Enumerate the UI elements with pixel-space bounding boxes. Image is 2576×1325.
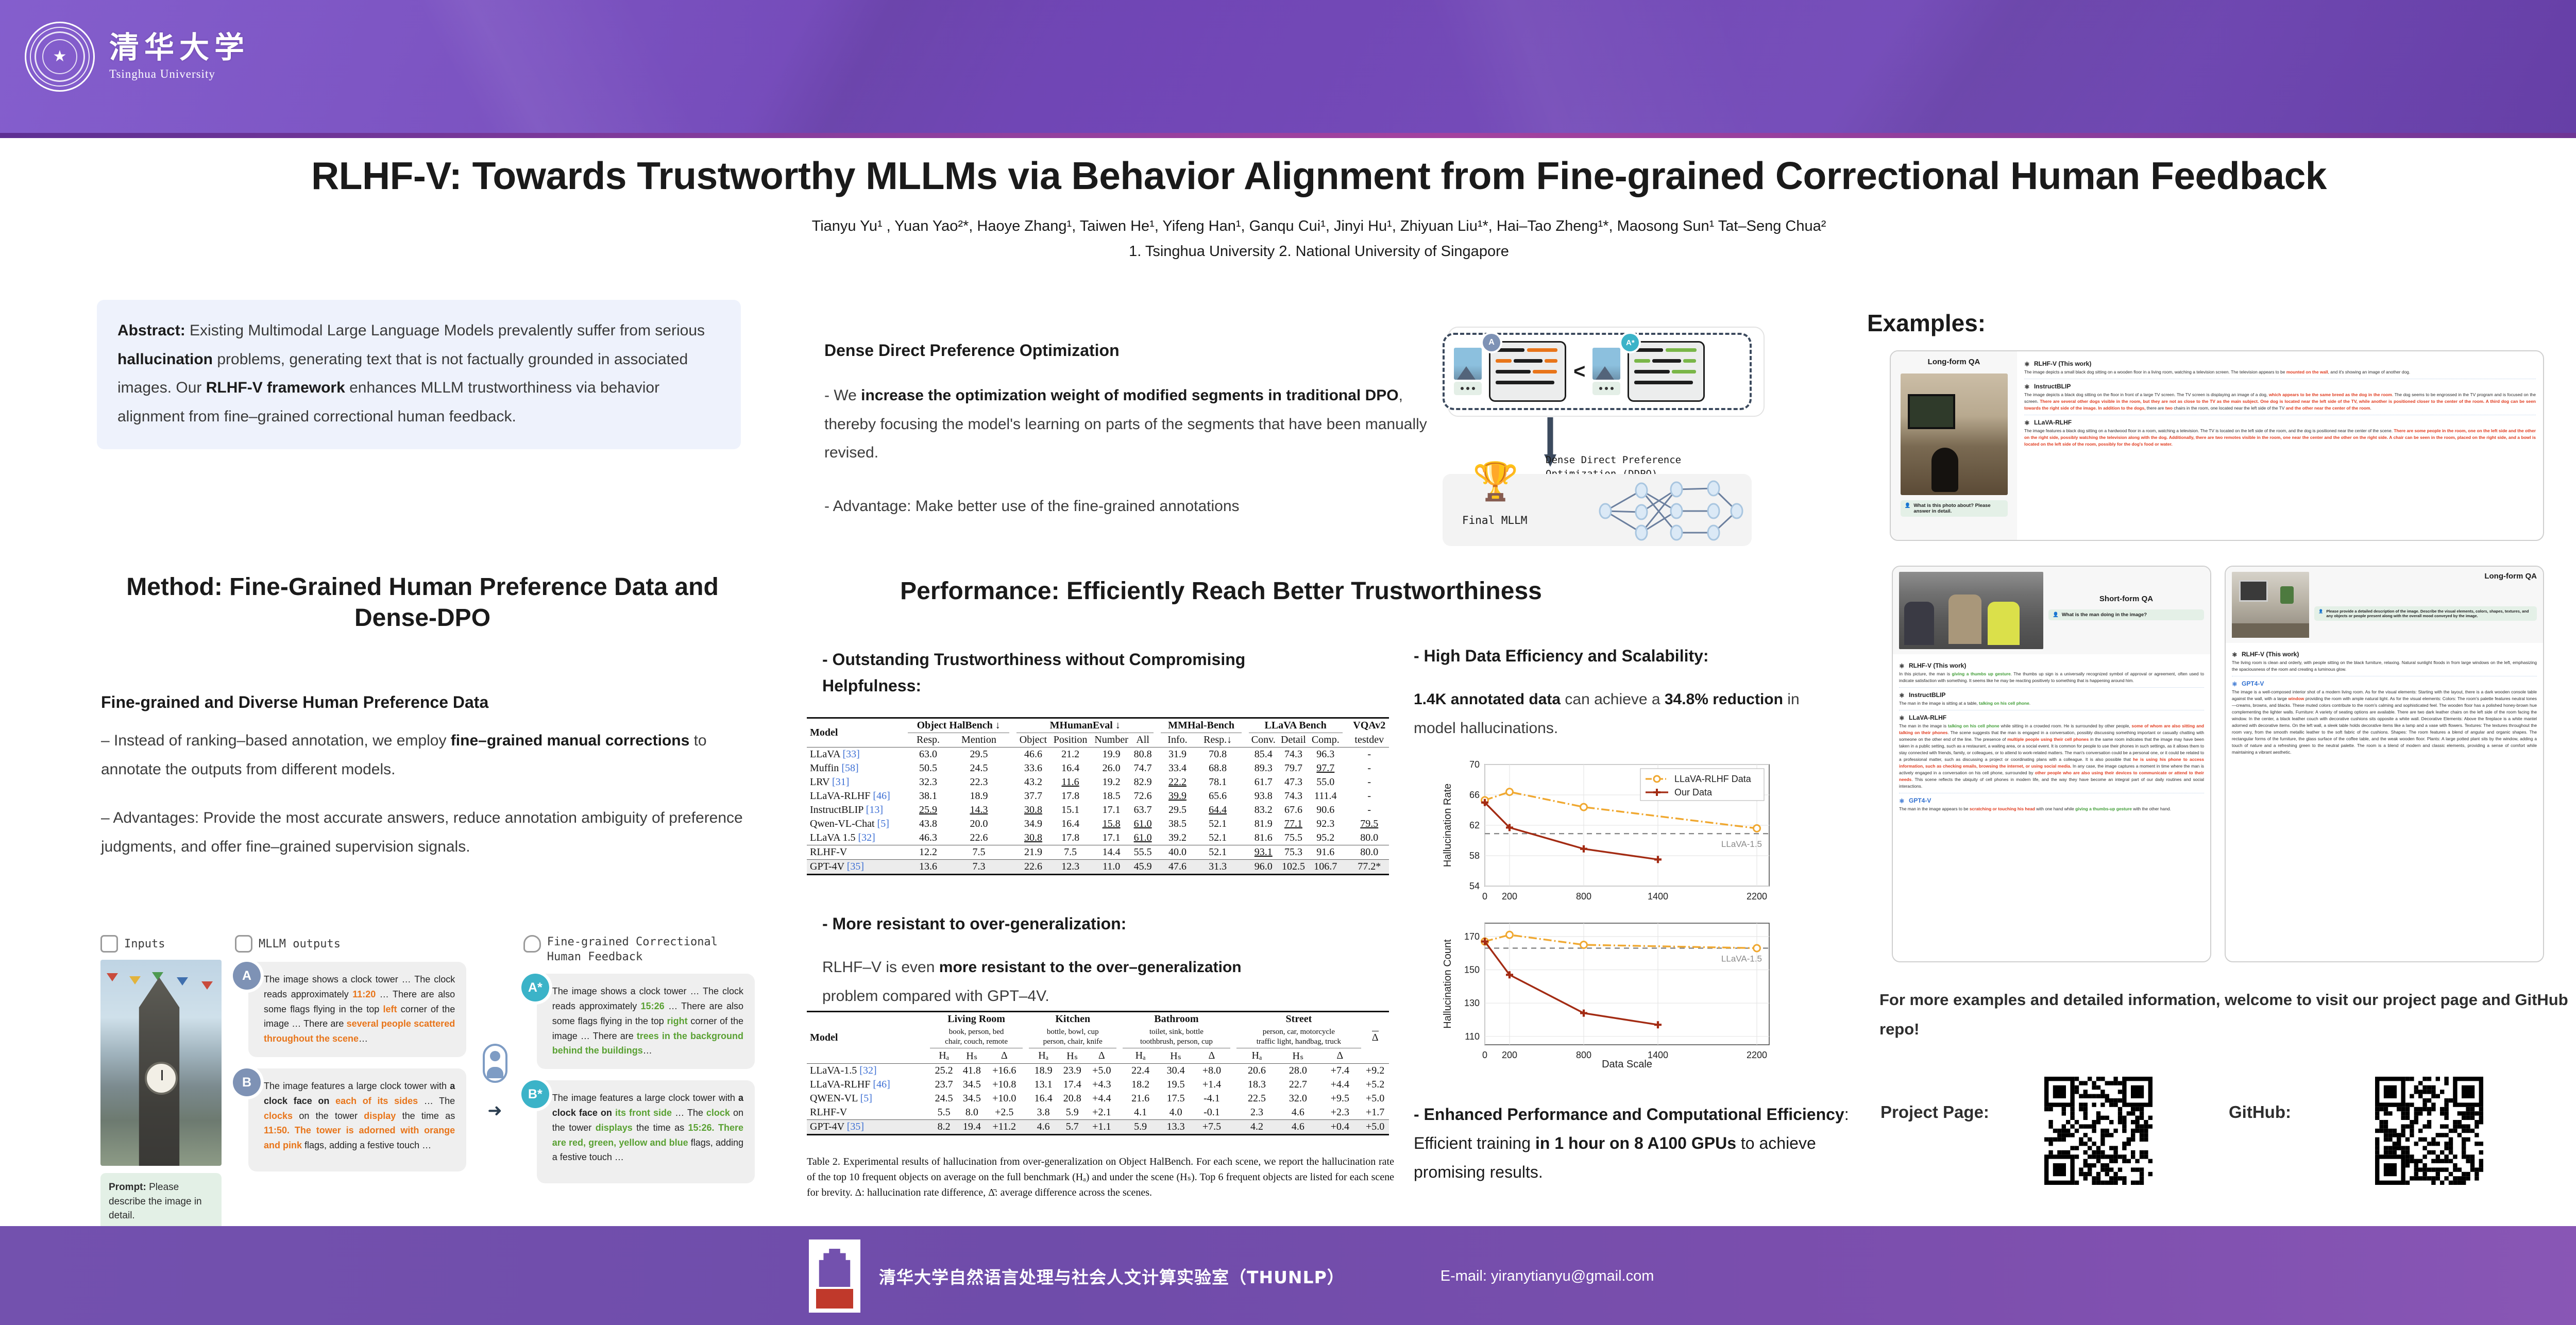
example-1-question-text: What is this photo about? Please answer … bbox=[1913, 503, 2003, 514]
response-separator bbox=[1899, 793, 2204, 793]
affiliation-list: 1. Tsinghua University 2. National Unive… bbox=[0, 243, 2576, 260]
table2-scene-objects: person, car, motorcycletraffic light, ha… bbox=[1236, 1026, 1362, 1048]
table1-cell: 25.9 bbox=[908, 803, 948, 817]
table1-cell: 61.0 bbox=[1132, 831, 1154, 845]
table2-cell: +4.4 bbox=[1318, 1078, 1361, 1092]
table1-subheader: Detail bbox=[1278, 733, 1309, 748]
table1-cell: 55.5 bbox=[1132, 845, 1154, 860]
table1-cell: 95.2 bbox=[1309, 831, 1342, 845]
atom-icon: ⚛ bbox=[2024, 383, 2031, 390]
table2-cell: 25.2 bbox=[930, 1063, 958, 1078]
table2-cell: 22.4 bbox=[1123, 1063, 1158, 1078]
efficiency-bullet: - High Data Efficiency and Scalability: bbox=[1414, 647, 1841, 666]
perf-b3c: in 1 hour on 8 A100 GPUs bbox=[1535, 1134, 1736, 1152]
poster-header: ★ 清华大学 Tsinghua University bbox=[0, 0, 2576, 135]
table1-cell: 17.1 bbox=[1091, 803, 1132, 817]
performance-bullet-1: - Outstanding Trustworthiness without Co… bbox=[822, 647, 1265, 699]
table2-cell: 32.0 bbox=[1277, 1092, 1318, 1106]
badge-a-star: A* bbox=[521, 974, 549, 1001]
table1-cell: 34.9 bbox=[1016, 817, 1050, 831]
table1-cell: 90.6 bbox=[1309, 803, 1342, 817]
table1-header-model: Model bbox=[807, 718, 908, 748]
inputs-column-header: Inputs bbox=[100, 935, 222, 953]
svg-text:LLaVA-1.5: LLaVA-1.5 bbox=[1721, 839, 1762, 849]
table1-cell: 63.7 bbox=[1132, 803, 1154, 817]
table1-subheader: Comp. bbox=[1309, 733, 1342, 748]
table1-cell: 16.4 bbox=[1050, 817, 1091, 831]
ddpo-paragraph-2: - Advantage: Make better use of the fine… bbox=[824, 492, 1432, 521]
table1-cell: 12.2 bbox=[908, 845, 948, 860]
example-card-shortform: Short-form QA 👤What is the man doing in … bbox=[1892, 566, 2211, 962]
table2-cell: +2.3 bbox=[1318, 1106, 1361, 1120]
table2-subheader: Hₐ bbox=[1123, 1048, 1158, 1063]
badge-b: B bbox=[233, 1068, 261, 1096]
table1-cell: 19.2 bbox=[1091, 775, 1132, 789]
response-model-label: ⚛LLaVA-RLHF bbox=[2024, 419, 2536, 426]
table1-cell: 7.5 bbox=[1050, 845, 1091, 860]
example-card-longform-2: Long-form QA 👤Please provide a detailed … bbox=[2225, 566, 2544, 962]
table2-cell: 24.5 bbox=[930, 1092, 958, 1106]
method-figure: Inputs Prompt: Please describe the image… bbox=[100, 935, 755, 1213]
table1-row-model: LRV [31] bbox=[807, 775, 908, 789]
table1-subheader: Info. bbox=[1161, 733, 1194, 748]
table2-cell-avg: +1.7 bbox=[1361, 1106, 1389, 1120]
example-1-question: 👤What is this photo about? Please answer… bbox=[1901, 500, 2008, 517]
output-astar-bubble: The image shows a clock tower … The cloc… bbox=[537, 974, 755, 1069]
table2-cell: 19.5 bbox=[1158, 1078, 1194, 1092]
table2-cell: 3.8 bbox=[1029, 1106, 1058, 1120]
table1-cell: 45.9 bbox=[1132, 860, 1154, 875]
table2-subheader: Hₛ bbox=[958, 1048, 986, 1063]
svg-text:0: 0 bbox=[1482, 891, 1487, 902]
table1-cell: - bbox=[1350, 761, 1389, 775]
table1-cell: 75.5 bbox=[1278, 831, 1309, 845]
table2-cell: 34.5 bbox=[958, 1092, 986, 1106]
table1-cell: 15.1 bbox=[1050, 803, 1091, 817]
table1-row-model: LLaVA 1.5 [32] bbox=[807, 831, 908, 845]
table1-row-model: LLaVA-RLHF [46] bbox=[807, 789, 908, 803]
table2-cell: 20.8 bbox=[1058, 1092, 1087, 1106]
table2-subheader: Hₐ bbox=[1029, 1048, 1058, 1063]
table1-cell: 67.6 bbox=[1278, 803, 1309, 817]
table1-cell: 93.1 bbox=[1249, 845, 1278, 860]
table1-cell: 21.9 bbox=[1016, 845, 1050, 860]
table2-scene-objects: toilet, sink, bottletoothbrush, person, … bbox=[1123, 1026, 1230, 1048]
response-text: The image features a black dog sitting o… bbox=[2024, 428, 2536, 448]
table1-cell: 61.0 bbox=[1132, 817, 1154, 831]
table2-cell: 5.5 bbox=[930, 1106, 958, 1120]
svg-text:LLaVA-RLHF Data: LLaVA-RLHF Data bbox=[1674, 774, 1752, 784]
table1-cell: 15.8 bbox=[1091, 817, 1132, 831]
svg-text:200: 200 bbox=[1502, 891, 1517, 902]
table1-cell: 91.6 bbox=[1309, 845, 1342, 860]
ddpo-p1a: - We bbox=[824, 387, 861, 404]
page-title: RLHF-V: Towards Trustworthy MLLMs via Be… bbox=[0, 155, 2576, 197]
table2-cell: +4.3 bbox=[1087, 1078, 1116, 1092]
method-paragraph-2: – Advantages: Provide the most accurate … bbox=[101, 804, 755, 861]
response-model-label: ⚛InstructBLIP bbox=[1899, 691, 2204, 699]
abstract-b1: hallucination bbox=[117, 351, 213, 368]
example-2-responses: ⚛RLHF-V (This work)In this picture, the … bbox=[1893, 654, 2210, 817]
response-separator bbox=[2024, 415, 2536, 415]
table1-row-model: Muffin [58] bbox=[807, 761, 908, 775]
response-astar-box bbox=[1628, 341, 1705, 402]
svg-text:110: 110 bbox=[1465, 1031, 1480, 1042]
example-3-question-text: Please provide a detailed description of… bbox=[2326, 609, 2533, 618]
svg-text:Data Scale: Data Scale bbox=[1602, 1059, 1652, 1069]
university-name-cn: 清华大学 bbox=[109, 32, 249, 62]
table1-cell: 65.6 bbox=[1194, 789, 1242, 803]
author-list: Tianyu Yu¹ , Yuan Yao²*, Haoye Zhang¹, T… bbox=[0, 218, 2576, 235]
table1-cell: 46.6 bbox=[1016, 748, 1050, 762]
ddpo-figure: A < A* bbox=[1443, 325, 1772, 546]
table2-cell: 41.8 bbox=[958, 1063, 986, 1078]
example-3-responses: ⚛RLHF-V (This work)The living room is cl… bbox=[2226, 643, 2543, 760]
table1-cell: 29.5 bbox=[1161, 803, 1194, 817]
table2-cell: 23.9 bbox=[1058, 1063, 1087, 1078]
perf-p2c: problem compared with GPT–4V. bbox=[822, 988, 1049, 1005]
table1-cell: 22.6 bbox=[1016, 860, 1050, 875]
atom-icon: ⚛ bbox=[1899, 662, 1906, 669]
svg-text:Hallucination Count: Hallucination Count bbox=[1442, 939, 1453, 1029]
table2-row-model: LLaVA-RLHF [46] bbox=[807, 1078, 930, 1092]
table2-subheader: Hₐ bbox=[1236, 1048, 1278, 1063]
svg-text:58: 58 bbox=[1469, 851, 1480, 861]
final-mllm-label: Final MLLM bbox=[1462, 514, 1527, 526]
table1-cell: 19.9 bbox=[1091, 748, 1132, 762]
table1-cell: 43.8 bbox=[908, 817, 948, 831]
response-separator bbox=[1899, 710, 2204, 710]
scaling-charts: LLaVA-1.55458626670020080014002200Halluc… bbox=[1437, 756, 1777, 1071]
results-table-1: ModelObject HalBench ↓MHumanEval ↓MMHal-… bbox=[807, 717, 1389, 875]
table1-cell: 14.4 bbox=[1091, 845, 1132, 860]
perf-p2a: RLHF–V is even bbox=[822, 959, 939, 976]
table2-cell: +9.5 bbox=[1318, 1092, 1361, 1106]
svg-text:LLaVA-1.5: LLaVA-1.5 bbox=[1721, 954, 1762, 963]
output-a-bubble: The image shows a clock tower … The cloc… bbox=[248, 962, 466, 1057]
svg-text:800: 800 bbox=[1576, 1050, 1591, 1060]
table1-cell: 30.8 bbox=[1016, 803, 1050, 817]
table1-cell: 21.2 bbox=[1050, 748, 1091, 762]
table2-subheader: Δ bbox=[986, 1048, 1023, 1063]
table2-cell: 2.3 bbox=[1236, 1106, 1278, 1120]
ddpo-heading: Dense Direct Preference Optimization bbox=[824, 341, 1432, 360]
table1-cell: 18.5 bbox=[1091, 789, 1132, 803]
university-name-en: Tsinghua University bbox=[109, 67, 249, 81]
table1-cell: 81.6 bbox=[1249, 831, 1278, 845]
table1-cell: 106.7 bbox=[1309, 860, 1342, 875]
response-separator bbox=[1899, 687, 2204, 688]
table1-cell: 11.0 bbox=[1091, 860, 1132, 875]
table1-cell: 46.3 bbox=[908, 831, 948, 845]
response-a-box bbox=[1489, 341, 1566, 402]
table2-cell: 23.7 bbox=[930, 1078, 958, 1092]
table1-cell: 30.8 bbox=[1016, 831, 1050, 845]
table2-row-model: LLaVA-1.5 [32] bbox=[807, 1063, 930, 1078]
table1-cell: 89.3 bbox=[1249, 761, 1278, 775]
header-divider bbox=[0, 133, 2576, 138]
table2-cell: 22.7 bbox=[1277, 1078, 1318, 1092]
response-model-label: ⚛RLHF-V (This work) bbox=[2232, 651, 2537, 658]
table2-cell: +16.6 bbox=[986, 1063, 1023, 1078]
table2-cell: -4.1 bbox=[1193, 1092, 1230, 1106]
svg-text:2200: 2200 bbox=[1747, 891, 1767, 902]
table1-subheader: Position bbox=[1050, 733, 1091, 748]
table2-cell: 13.3 bbox=[1158, 1119, 1194, 1134]
table1-cell: 70.8 bbox=[1194, 748, 1242, 762]
robot-icon bbox=[235, 935, 252, 953]
svg-text:130: 130 bbox=[1464, 998, 1480, 1008]
table2-cell: 20.6 bbox=[1236, 1063, 1278, 1078]
output-bstar-bubble: The image features a large clock tower w… bbox=[537, 1080, 755, 1183]
table2-cell: 5.9 bbox=[1123, 1119, 1158, 1134]
table1-cell: 80.0 bbox=[1350, 845, 1389, 860]
table1-cell: 22.6 bbox=[948, 831, 1009, 845]
table1-cell: 33.4 bbox=[1161, 761, 1194, 775]
performance-paragraph-2: RLHF–V is even more resistant to the ove… bbox=[822, 953, 1286, 1010]
table1-cell: 17.1 bbox=[1091, 831, 1132, 845]
table2-cell-avg: +5.2 bbox=[1361, 1078, 1389, 1092]
table1-cell: 50.5 bbox=[908, 761, 948, 775]
method-paragraph-1: – Instead of ranking–based annotation, w… bbox=[101, 726, 755, 784]
table2-cell: 18.2 bbox=[1123, 1078, 1158, 1092]
table1-cell: 47.6 bbox=[1161, 860, 1194, 875]
image-icon bbox=[100, 935, 118, 953]
table1-cell: 33.6 bbox=[1016, 761, 1050, 775]
table-2-caption: Table 2. Experimental results of halluci… bbox=[807, 1154, 1394, 1200]
table1-cell: - bbox=[1350, 789, 1389, 803]
table2-cell: +1.4 bbox=[1193, 1078, 1230, 1092]
table1-subheader: Resp.↓ bbox=[1194, 733, 1242, 748]
table1-cell: 55.0 bbox=[1309, 775, 1342, 789]
hallucination-count-chart: LLaVA-1.5110130150170020080014002200Hall… bbox=[1437, 915, 1777, 1069]
response-separator bbox=[2024, 379, 2536, 379]
table1-cell: 17.8 bbox=[1050, 789, 1091, 803]
table1-cell: 79.5 bbox=[1350, 817, 1389, 831]
table2-cell-avg: +9.2 bbox=[1361, 1063, 1389, 1078]
table1-cell: 78.1 bbox=[1194, 775, 1242, 789]
table2-subheader: Δ bbox=[1318, 1048, 1361, 1063]
response-text: The image depicts a small black dog sitt… bbox=[2024, 369, 2536, 376]
table1-cell: 74.3 bbox=[1278, 748, 1309, 762]
response-text: The living room is clean and orderly, wi… bbox=[2232, 659, 2537, 673]
efficiency-paragraph: 1.4K annotated data can achieve a 34.8% … bbox=[1414, 685, 1841, 742]
table1-cell: 77.1 bbox=[1278, 817, 1309, 831]
table1-cell: 14.3 bbox=[948, 803, 1009, 817]
svg-text:Our Data: Our Data bbox=[1674, 787, 1713, 797]
clock-face bbox=[145, 1062, 178, 1095]
response-model-label: ⚛LLaVA-RLHF bbox=[1899, 714, 2204, 721]
lab-name: 清华大学自然语言处理与社会人文计算实验室（THUNLP） bbox=[879, 1264, 1345, 1288]
response-separator bbox=[2232, 676, 2537, 676]
results-table-2: ModelLiving RoomKitchenBathroomStreetΔbo… bbox=[807, 1011, 1389, 1135]
svg-text:62: 62 bbox=[1469, 820, 1480, 830]
ddpo-p1b: increase the optimization weight of modi… bbox=[861, 387, 1398, 404]
table1-cell: 111.4 bbox=[1309, 789, 1342, 803]
tsinghua-seal-icon: ★ bbox=[25, 22, 95, 92]
table1-cell: 13.6 bbox=[908, 860, 948, 875]
svg-text:70: 70 bbox=[1469, 759, 1480, 770]
table1-cell: - bbox=[1350, 748, 1389, 762]
table1-cell: 80.0 bbox=[1350, 831, 1389, 845]
performance-section-title: Performance: Efficiently Reach Better Tr… bbox=[804, 576, 1638, 607]
trophy-icon: 🏆 bbox=[1472, 460, 1519, 503]
table2-subheader: Δ bbox=[1193, 1048, 1230, 1063]
table1-subheader: Number bbox=[1091, 733, 1132, 748]
table1-cell: 43.2 bbox=[1016, 775, 1050, 789]
table1-cell: 7.3 bbox=[948, 860, 1009, 875]
table2-cell: 4.0 bbox=[1158, 1106, 1194, 1120]
table1-cell: 31.9 bbox=[1161, 748, 1194, 762]
svg-text:54: 54 bbox=[1469, 881, 1480, 891]
table1-cell: 18.9 bbox=[948, 789, 1009, 803]
table1-cell: 74.7 bbox=[1132, 761, 1154, 775]
table2-cell: 4.6 bbox=[1277, 1119, 1318, 1134]
table2-scene-objects: book, person, bedchair, couch, remote bbox=[930, 1026, 1023, 1048]
table1-cell: 22.2 bbox=[1161, 775, 1194, 789]
mini-prompt-astar bbox=[1592, 382, 1620, 395]
table1-cell: 74.3 bbox=[1278, 789, 1309, 803]
table1-group-objhal: Object HalBench ↓ bbox=[908, 718, 1009, 733]
prompt-label: Prompt: bbox=[109, 1182, 146, 1193]
atom-icon: ⚛ bbox=[2024, 361, 2031, 367]
human-annotator-icon: ➜ bbox=[480, 935, 510, 1230]
table2-cell: +7.5 bbox=[1193, 1119, 1230, 1134]
table1-group-mhuman: MHumanEval ↓ bbox=[1016, 718, 1154, 733]
table2-row-model: RLHF-V bbox=[807, 1106, 930, 1120]
project-page-qr-code[interactable] bbox=[2044, 1077, 2153, 1185]
clock-tower-photo bbox=[100, 960, 222, 1166]
table2-cell: 18.9 bbox=[1029, 1063, 1058, 1078]
table2-cell-avg: +5.0 bbox=[1361, 1092, 1389, 1106]
table1-group-vqav2: VQAv2 bbox=[1350, 718, 1389, 733]
table2-cell: -0.1 bbox=[1193, 1106, 1230, 1120]
table1-group-mmhal: MMHal-Bench bbox=[1161, 718, 1241, 733]
eff-p1b: can achieve a bbox=[1561, 691, 1665, 708]
table2-cell: 28.0 bbox=[1277, 1063, 1318, 1078]
table2-scene-name: Bathroom bbox=[1123, 1012, 1230, 1027]
table1-cell: 81.9 bbox=[1249, 817, 1278, 831]
example-2-photo bbox=[1899, 572, 2043, 649]
thunlp-logo-icon bbox=[809, 1239, 860, 1313]
table1-cell: 80.8 bbox=[1132, 748, 1154, 762]
method-p1a: – Instead of ranking–based annotation, w… bbox=[101, 732, 451, 749]
table2-header-model: Model bbox=[807, 1012, 930, 1064]
table1-cell: 7.5 bbox=[948, 845, 1009, 860]
table1-cell: 47.3 bbox=[1278, 775, 1309, 789]
example-card-longform-1: Long-form QA 👤What is this photo about? … bbox=[1890, 350, 2544, 541]
method-subheading: Fine-grained and Diverse Human Preferenc… bbox=[101, 693, 750, 712]
example-1-responses: ⚛RLHF-V (This work)The image depicts a s… bbox=[2017, 351, 2543, 540]
table2-cell: 17.4 bbox=[1058, 1078, 1087, 1092]
table1-cell: 37.7 bbox=[1016, 789, 1050, 803]
table1-row-model: RLHF-V bbox=[807, 845, 908, 860]
table1-subheader: testdev bbox=[1350, 733, 1389, 748]
person-icon: 👤 bbox=[1905, 503, 1911, 508]
table1-cell: 82.9 bbox=[1132, 775, 1154, 789]
table2-subheader: Hₛ bbox=[1058, 1048, 1087, 1063]
call-to-action-text: For more examples and detailed informati… bbox=[1879, 985, 2570, 1044]
table1-cell: 63.0 bbox=[908, 748, 948, 762]
table1-row-model: Qwen-VL-Chat [5] bbox=[807, 817, 908, 831]
table2-subheader: Hₛ bbox=[1277, 1048, 1318, 1063]
table1-cell: 64.4 bbox=[1194, 803, 1242, 817]
table1-subheader: Mention bbox=[948, 733, 1009, 748]
table1-cell: 93.8 bbox=[1249, 789, 1278, 803]
table1-cell: 24.5 bbox=[948, 761, 1009, 775]
eff-p1c: 34.8% reduction bbox=[1665, 691, 1783, 708]
table1-cell: 26.0 bbox=[1091, 761, 1132, 775]
example-2-tag: Short-form QA bbox=[2048, 594, 2204, 603]
table1-cell: 38.1 bbox=[908, 789, 948, 803]
preference-pair-box: A < A* bbox=[1443, 333, 1752, 410]
examples-title: Examples: bbox=[1867, 309, 1986, 337]
svg-text:2200: 2200 bbox=[1747, 1050, 1767, 1060]
svg-text:Hallucination Rate: Hallucination Rate bbox=[1442, 784, 1453, 867]
response-model-label: ⚛InstructBLIP bbox=[2024, 383, 2536, 390]
table2-cell: +0.4 bbox=[1318, 1119, 1361, 1134]
table1-cell: 29.5 bbox=[948, 748, 1009, 762]
table1-cell: 92.3 bbox=[1309, 817, 1342, 831]
table2-cell-avg: +5.0 bbox=[1361, 1119, 1389, 1134]
github-qr-code[interactable] bbox=[2375, 1077, 2483, 1185]
table1-subheader: Conv. bbox=[1249, 733, 1278, 748]
table2-subheader: Hₐ bbox=[930, 1048, 958, 1063]
table1-cell: 22.3 bbox=[948, 775, 1009, 789]
table1-cell: 83.2 bbox=[1249, 803, 1278, 817]
table1-cell: 17.8 bbox=[1050, 831, 1091, 845]
table2-cell: 16.4 bbox=[1029, 1092, 1058, 1106]
response-text: The image is a well-composed interior sh… bbox=[2232, 689, 2537, 756]
table1-cell: 72.6 bbox=[1132, 789, 1154, 803]
abstract-t1: Existing Multimodal Large Language Model… bbox=[185, 322, 705, 339]
response-model-label: ⚛GPT4-V bbox=[2232, 680, 2537, 687]
mini-image-a bbox=[1454, 348, 1482, 380]
table1-group-llavabench: LLaVA Bench bbox=[1249, 718, 1343, 733]
table2-cell: 8.0 bbox=[958, 1106, 986, 1120]
table2-cell: 5.9 bbox=[1058, 1106, 1087, 1120]
preference-comparator: < bbox=[1573, 360, 1585, 383]
eff-p1a: 1.4K annotated data bbox=[1414, 691, 1561, 708]
atom-icon: ⚛ bbox=[1899, 797, 1906, 804]
abstract-label: Abstract: bbox=[117, 322, 185, 339]
table2-cell: 22.5 bbox=[1236, 1092, 1278, 1106]
table2-cell: 8.2 bbox=[930, 1119, 958, 1134]
svg-text:150: 150 bbox=[1464, 965, 1480, 975]
atom-icon: ⚛ bbox=[2024, 419, 2031, 426]
badge-a: A bbox=[233, 962, 261, 990]
response-model-label: ⚛RLHF-V (This work) bbox=[2024, 360, 2536, 367]
table1-cell: 16.4 bbox=[1050, 761, 1091, 775]
response-text: In this picture, the man is giving a thu… bbox=[1899, 671, 2204, 684]
svg-text:200: 200 bbox=[1502, 1050, 1517, 1060]
table1-cell: 39.2 bbox=[1161, 831, 1194, 845]
example-1-photo bbox=[1901, 373, 2008, 495]
table2-cell: 4.2 bbox=[1236, 1119, 1278, 1134]
table2-row-model: QWEN-VL [5] bbox=[807, 1092, 930, 1106]
table1-cell: 97.7 bbox=[1309, 761, 1342, 775]
table2-cell: +11.2 bbox=[986, 1119, 1023, 1134]
table2-cell: 4.6 bbox=[1029, 1119, 1058, 1134]
table2-scene-name: Living Room bbox=[930, 1012, 1023, 1027]
person-icon: 👤 bbox=[2318, 609, 2323, 614]
table1-cell: 79.7 bbox=[1278, 761, 1309, 775]
mllm-outputs-column-header: MLLM outputs bbox=[235, 935, 466, 953]
table2-cell: 34.5 bbox=[958, 1078, 986, 1092]
example-3-tag: Long-form QA bbox=[2314, 572, 2537, 581]
table2-cell: 4.1 bbox=[1123, 1106, 1158, 1120]
table1-cell: 11.6 bbox=[1050, 775, 1091, 789]
